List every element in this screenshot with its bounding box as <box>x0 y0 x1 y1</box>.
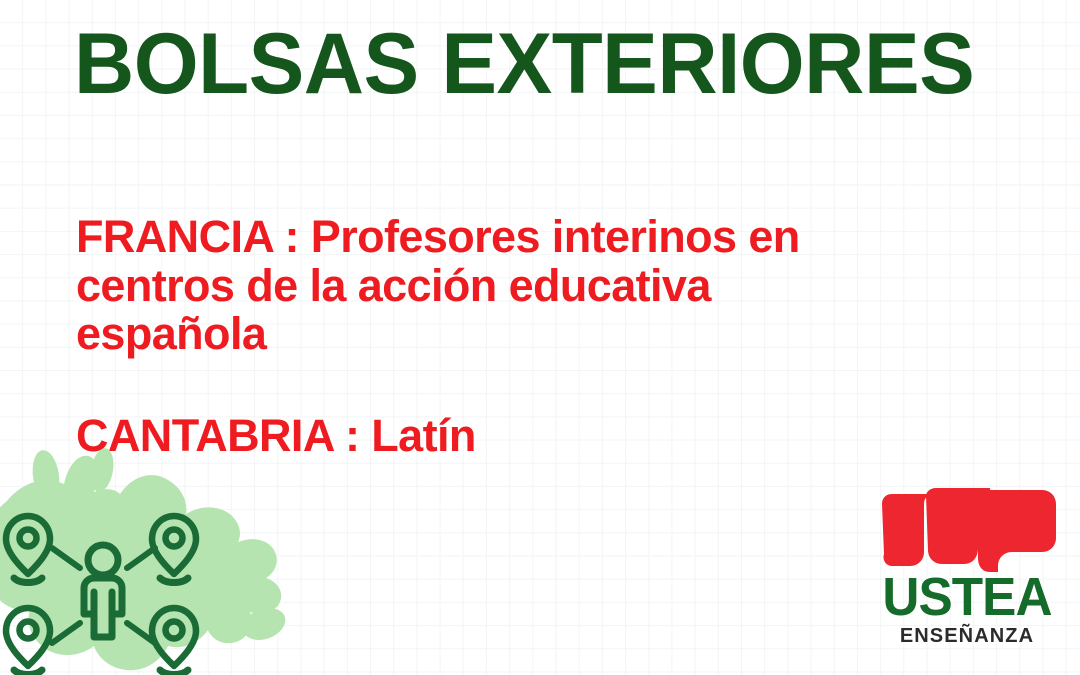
network-of-locations-illustration <box>0 436 322 675</box>
page-title: BOLSAS EXTERIORES <box>74 22 974 106</box>
poster-canvas: BOLSAS EXTERIORES FRANCIA : Profesores i… <box>0 0 1080 675</box>
ustea-wordmark: USTEA <box>877 570 1058 624</box>
announcement-list: FRANCIA : Profesores interinos en centro… <box>76 213 906 460</box>
ustea-subtitle: ENSEÑANZA <box>872 626 1062 646</box>
ustea-logo: USTEA ENSEÑANZA <box>872 486 1062 658</box>
announcement-item-francia: FRANCIA : Profesores interinos en centro… <box>76 213 906 359</box>
ustea-lightning-flags-mark <box>878 486 1058 574</box>
